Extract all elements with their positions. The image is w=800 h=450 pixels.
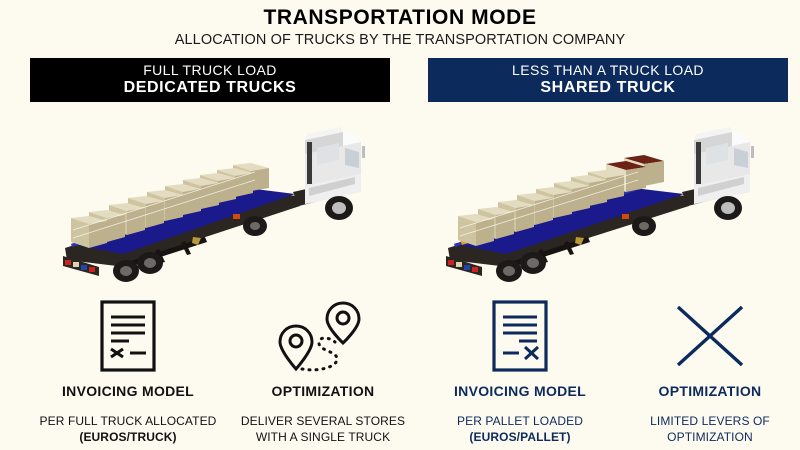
route-map-pins-icon — [233, 296, 413, 376]
page-title: TRANSPORTATION MODE — [0, 6, 800, 30]
feature-body-line1: PER FULL TRUCK ALLOCATED — [40, 414, 217, 428]
tractor-cab-shared — [682, 127, 754, 220]
truck-svg-dedicated — [55, 118, 375, 283]
feature-body-line2: OPTIMIZATION — [667, 430, 753, 444]
feature-body: LIMITED LEVERS OF OPTIMIZATION — [610, 413, 800, 445]
page-subtitle: ALLOCATION OF TRUCKS BY THE TRANSPORTATI… — [0, 32, 800, 48]
feature-icon-cell-invoicing-ftl — [38, 296, 218, 376]
feature-body-line2: WITH A SINGLE TRUCK — [256, 430, 390, 444]
feature-heading: OPTIMIZATION — [610, 383, 800, 399]
feature-heading: INVOICING MODEL — [28, 383, 228, 399]
feature-heading: INVOICING MODEL — [420, 383, 620, 399]
feature-icon-cell-invoicing-ltl — [430, 296, 610, 376]
feature-icon-cell-optimization-ltl — [620, 296, 800, 376]
feature-body-line1: LIMITED LEVERS OF — [650, 414, 770, 428]
banner-left-line2: DEDICATED TRUCKS — [124, 79, 297, 97]
banner-right-line2: SHARED TRUCK — [540, 79, 675, 97]
infographic-canvas: TRANSPORTATION MODE ALLOCATION OF TRUCKS… — [0, 0, 800, 450]
feature-body: PER PALLET LOADED (EUROS/PALLET) — [420, 413, 620, 445]
feature-icon-cell-optimization-ftl — [233, 296, 413, 376]
invoice-document-icon — [38, 296, 218, 376]
cross-x-icon — [620, 296, 800, 376]
feature-body: PER FULL TRUCK ALLOCATED (EUROS/TRUCK) — [28, 413, 228, 445]
banner-full-truck-load: FULL TRUCK LOAD DEDICATED TRUCKS — [30, 58, 390, 102]
banner-right-line1: LESS THAN A TRUCK LOAD — [512, 63, 704, 79]
feature-body: DELIVER SEVERAL STORES WITH A SINGLE TRU… — [223, 413, 423, 445]
feature-body-line1: DELIVER SEVERAL STORES — [241, 414, 405, 428]
truck-svg-shared — [438, 118, 768, 283]
invoice-document-icon — [430, 296, 610, 376]
banner-left-line1: FULL TRUCK LOAD — [143, 63, 277, 79]
truck-illustration-shared — [438, 118, 768, 288]
feature-body-line2: (EUROS/TRUCK) — [79, 430, 176, 444]
feature-body-line1: PER PALLET LOADED — [457, 414, 583, 428]
tractor-cab-dedicated — [293, 127, 365, 220]
feature-body-line2: (EUROS/PALLET) — [469, 430, 570, 444]
banner-less-than-truck-load: LESS THAN A TRUCK LOAD SHARED TRUCK — [428, 58, 788, 102]
truck-illustration-dedicated — [55, 118, 375, 288]
feature-caption-optimization-ltl: OPTIMIZATION LIMITED LEVERS OF OPTIMIZAT… — [610, 383, 800, 445]
feature-caption-optimization-ftl: OPTIMIZATION DELIVER SEVERAL STORES WITH… — [223, 383, 423, 445]
feature-caption-invoicing-ltl: INVOICING MODEL PER PALLET LOADED (EUROS… — [420, 383, 620, 445]
feature-heading: OPTIMIZATION — [223, 383, 423, 399]
feature-caption-invoicing-ftl: INVOICING MODEL PER FULL TRUCK ALLOCATED… — [28, 383, 228, 445]
